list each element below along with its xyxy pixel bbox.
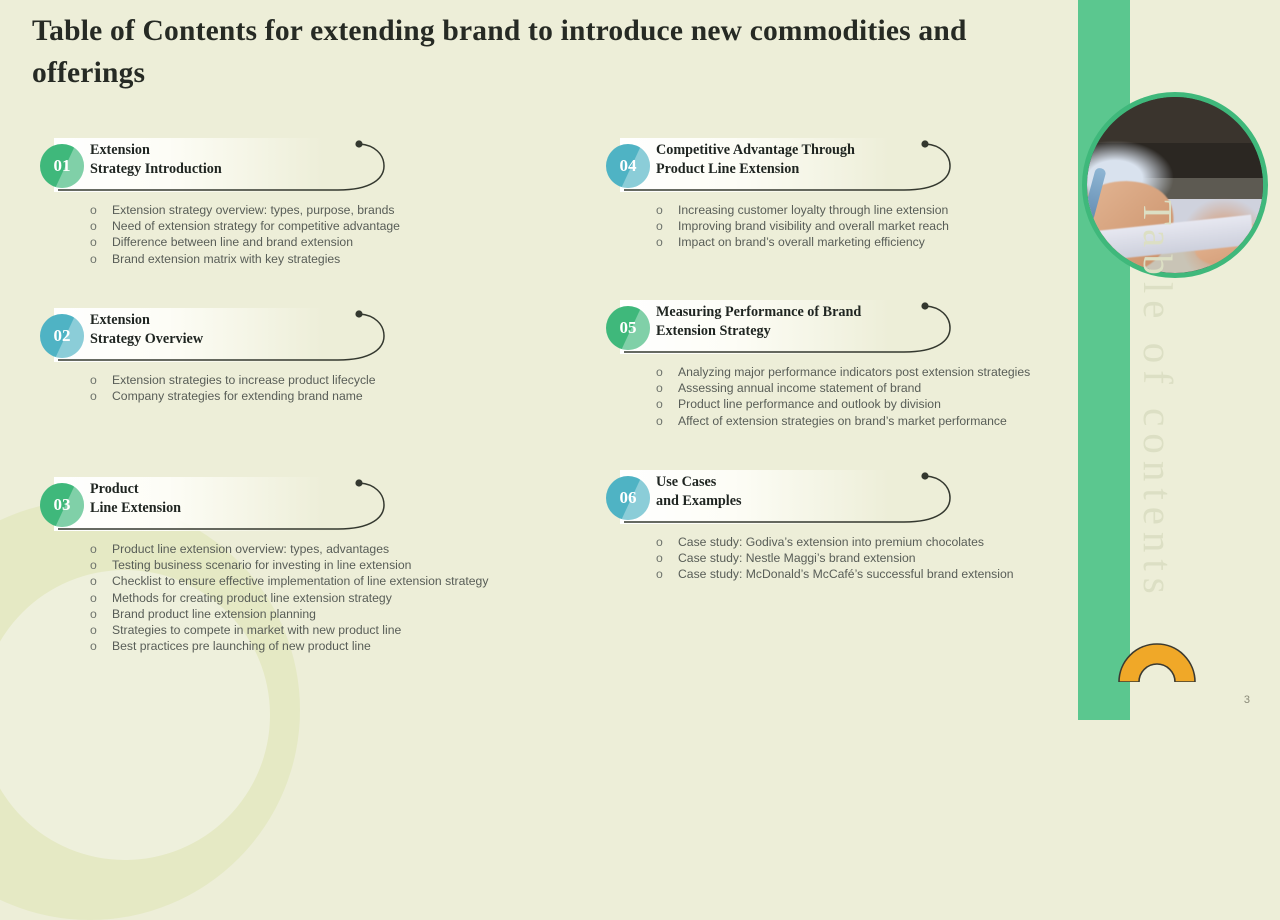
bullet-circle-icon: o [90, 573, 97, 589]
section-number-badge-01[interactable]: 01 [40, 144, 84, 188]
bullet-item: oBest practices pre launching of new pro… [88, 638, 488, 654]
section-03: 03ProductLine ExtensionoProduct line ext… [32, 477, 488, 654]
bullet-text: Case study: Nestle Maggi’s brand extensi… [678, 551, 916, 565]
vertical-table-of-contents-label: Table of contents [1134, 200, 1182, 520]
section-number-label: 05 [620, 318, 637, 338]
bullet-item: oAssessing annual income statement of br… [654, 380, 1030, 396]
section-header-02: 02ExtensionStrategy Overview [32, 308, 376, 362]
bullet-text: Brand extension matrix with key strategi… [112, 252, 340, 266]
bullet-text: Assessing annual income statement of bra… [678, 381, 921, 395]
bullet-text: Company strategies for extending brand n… [112, 389, 363, 403]
section-06: 06Use Casesand ExamplesoCase study: Godi… [598, 470, 1014, 583]
bullet-text: Product line performance and outlook by … [678, 397, 941, 411]
bullet-text: Impact on brand’s overall marketing effi… [678, 235, 925, 249]
bullet-circle-icon: o [90, 234, 97, 250]
section-number-badge-04[interactable]: 04 [606, 144, 650, 188]
bullet-circle-icon: o [90, 218, 97, 234]
section-number-badge-02[interactable]: 02 [40, 314, 84, 358]
bullet-text: Case study: McDonald’s McCafé’s successf… [678, 567, 1014, 581]
section-title-05: Measuring Performance of BrandExtension … [656, 303, 861, 340]
section-title-line1: Extension [90, 141, 222, 160]
section-title-line1: Use Cases [656, 473, 742, 492]
section-title-line2: Extension Strategy [656, 322, 861, 341]
section-bullet-list-01: oExtension strategy overview: types, pur… [88, 202, 400, 267]
bullet-item: oCase study: Godiva’s extension into pre… [654, 534, 1014, 550]
bullet-circle-icon: o [656, 566, 663, 582]
section-number-label: 02 [54, 326, 71, 346]
bullet-item: oCompany strategies for extending brand … [88, 388, 376, 404]
section-curve-dot [355, 310, 362, 317]
bullet-item: oProduct line performance and outlook by… [654, 396, 1030, 412]
bullet-circle-icon: o [90, 557, 97, 573]
section-title-line1: Product [90, 480, 181, 499]
section-number-label: 06 [620, 488, 637, 508]
section-curve-dot [921, 472, 928, 479]
section-number-label: 04 [620, 156, 637, 176]
bullet-item: oImpact on brand’s overall marketing eff… [654, 234, 949, 250]
section-header-04: 04Competitive Advantage ThroughProduct L… [598, 138, 949, 192]
bullet-item: oNeed of extension strategy for competit… [88, 218, 400, 234]
bullet-circle-icon: o [656, 413, 663, 429]
bullet-item: oStrategies to compete in market with ne… [88, 622, 488, 638]
bullet-text: Case study: Godiva’s extension into prem… [678, 535, 984, 549]
section-bullet-list-04: oIncreasing customer loyalty through lin… [654, 202, 949, 251]
section-number-badge-05[interactable]: 05 [606, 306, 650, 350]
bullet-item: oBrand product line extension planning [88, 606, 488, 622]
bullet-circle-icon: o [90, 606, 97, 622]
bullet-text: Difference between line and brand extens… [112, 235, 353, 249]
section-title-02: ExtensionStrategy Overview [90, 311, 203, 348]
bullet-item: oAnalyzing major performance indicators … [654, 364, 1030, 380]
bullet-text: Analyzing major performance indicators p… [678, 365, 1030, 379]
bullet-item: oMethods for creating product line exten… [88, 590, 488, 606]
bullet-item: oDifference between line and brand exten… [88, 234, 400, 250]
bullet-item: oExtension strategies to increase produc… [88, 372, 376, 388]
section-header-01: 01ExtensionStrategy Introduction [32, 138, 400, 192]
bullet-text: Strategies to compete in market with new… [112, 623, 401, 637]
section-title-line2: Line Extension [90, 499, 181, 518]
orange-arc-shape [1117, 642, 1197, 682]
bullet-item: oIncreasing customer loyalty through lin… [654, 202, 949, 218]
section-title-line1: Measuring Performance of Brand [656, 303, 861, 322]
section-title-06: Use Casesand Examples [656, 473, 742, 510]
section-title-line1: Competitive Advantage Through [656, 141, 855, 160]
section-01: 01ExtensionStrategy IntroductionoExtensi… [32, 138, 400, 267]
section-header-06: 06Use Casesand Examples [598, 470, 1014, 524]
bullet-circle-icon: o [656, 202, 663, 218]
bullet-circle-icon: o [90, 251, 97, 267]
bullet-item: oTesting business scenario for investing… [88, 557, 488, 573]
section-number-badge-03[interactable]: 03 [40, 483, 84, 527]
bullet-circle-icon: o [656, 234, 663, 250]
page-number: 3 [1244, 694, 1250, 706]
bullet-circle-icon: o [656, 364, 663, 380]
bullet-text: Brand product line extension planning [112, 607, 316, 621]
bullet-circle-icon: o [90, 372, 97, 388]
section-title-01: ExtensionStrategy Introduction [90, 141, 222, 178]
bullet-item: oBrand extension matrix with key strateg… [88, 251, 400, 267]
section-curve-dot [921, 140, 928, 147]
section-title-line2: Product Line Extension [656, 160, 855, 179]
bullet-text: Checklist to ensure effective implementa… [112, 574, 488, 588]
bullet-circle-icon: o [90, 638, 97, 654]
bullet-text: Testing business scenario for investing … [112, 558, 411, 572]
section-title-line2: Strategy Overview [90, 330, 203, 349]
bullet-circle-icon: o [90, 541, 97, 557]
section-title-04: Competitive Advantage ThroughProduct Lin… [656, 141, 855, 178]
bullet-text: Affect of extension strategies on brand’… [678, 414, 1007, 428]
section-bullet-list-03: oProduct line extension overview: types,… [88, 541, 488, 654]
bullet-item: oExtension strategy overview: types, pur… [88, 202, 400, 218]
section-bullet-list-06: oCase study: Godiva’s extension into pre… [654, 534, 1014, 583]
section-number-label: 01 [54, 156, 71, 176]
bullet-item: oProduct line extension overview: types,… [88, 541, 488, 557]
section-05: 05Measuring Performance of BrandExtensio… [598, 300, 1030, 429]
bullet-item: oCase study: Nestle Maggi’s brand extens… [654, 550, 1014, 566]
bullet-circle-icon: o [656, 218, 663, 234]
section-number-badge-06[interactable]: 06 [606, 476, 650, 520]
bullet-text: Extension strategy overview: types, purp… [112, 203, 395, 217]
bullet-circle-icon: o [656, 396, 663, 412]
section-bullet-list-05: oAnalyzing major performance indicators … [654, 364, 1030, 429]
bullet-text: Improving brand visibility and overall m… [678, 219, 949, 233]
bullet-text: Best practices pre launching of new prod… [112, 639, 371, 653]
section-title-line2: and Examples [656, 492, 742, 511]
section-curve-dot [355, 479, 362, 486]
section-title-line2: Strategy Introduction [90, 160, 222, 179]
bullet-circle-icon: o [656, 534, 663, 550]
section-header-03: 03ProductLine Extension [32, 477, 488, 531]
section-bullet-list-02: oExtension strategies to increase produc… [88, 372, 376, 404]
bullet-item: oChecklist to ensure effective implement… [88, 573, 488, 589]
page-title: Table of Contents for extending brand to… [32, 10, 1062, 94]
bullet-item: oAffect of extension strategies on brand… [654, 413, 1030, 429]
bullet-circle-icon: o [656, 380, 663, 396]
section-header-05: 05Measuring Performance of BrandExtensio… [598, 300, 1030, 354]
section-number-label: 03 [54, 495, 71, 515]
section-title-03: ProductLine Extension [90, 480, 181, 517]
bullet-text: Increasing customer loyalty through line… [678, 203, 948, 217]
bullet-circle-icon: o [90, 590, 97, 606]
section-02: 02ExtensionStrategy OverviewoExtension s… [32, 308, 376, 404]
bullet-circle-icon: o [656, 550, 663, 566]
bullet-circle-icon: o [90, 622, 97, 638]
bullet-text: Product line extension overview: types, … [112, 542, 389, 556]
bullet-circle-icon: o [90, 388, 97, 404]
bullet-text: Need of extension strategy for competiti… [112, 219, 400, 233]
bullet-item: oImproving brand visibility and overall … [654, 218, 949, 234]
bullet-text: Methods for creating product line extens… [112, 591, 392, 605]
section-title-line1: Extension [90, 311, 203, 330]
section-04: 04Competitive Advantage ThroughProduct L… [598, 138, 949, 251]
section-curve-dot [921, 302, 928, 309]
bullet-text: Extension strategies to increase product… [112, 373, 376, 387]
bullet-item: oCase study: McDonald’s McCafé’s success… [654, 566, 1014, 582]
section-curve-dot [355, 140, 362, 147]
bullet-circle-icon: o [90, 202, 97, 218]
